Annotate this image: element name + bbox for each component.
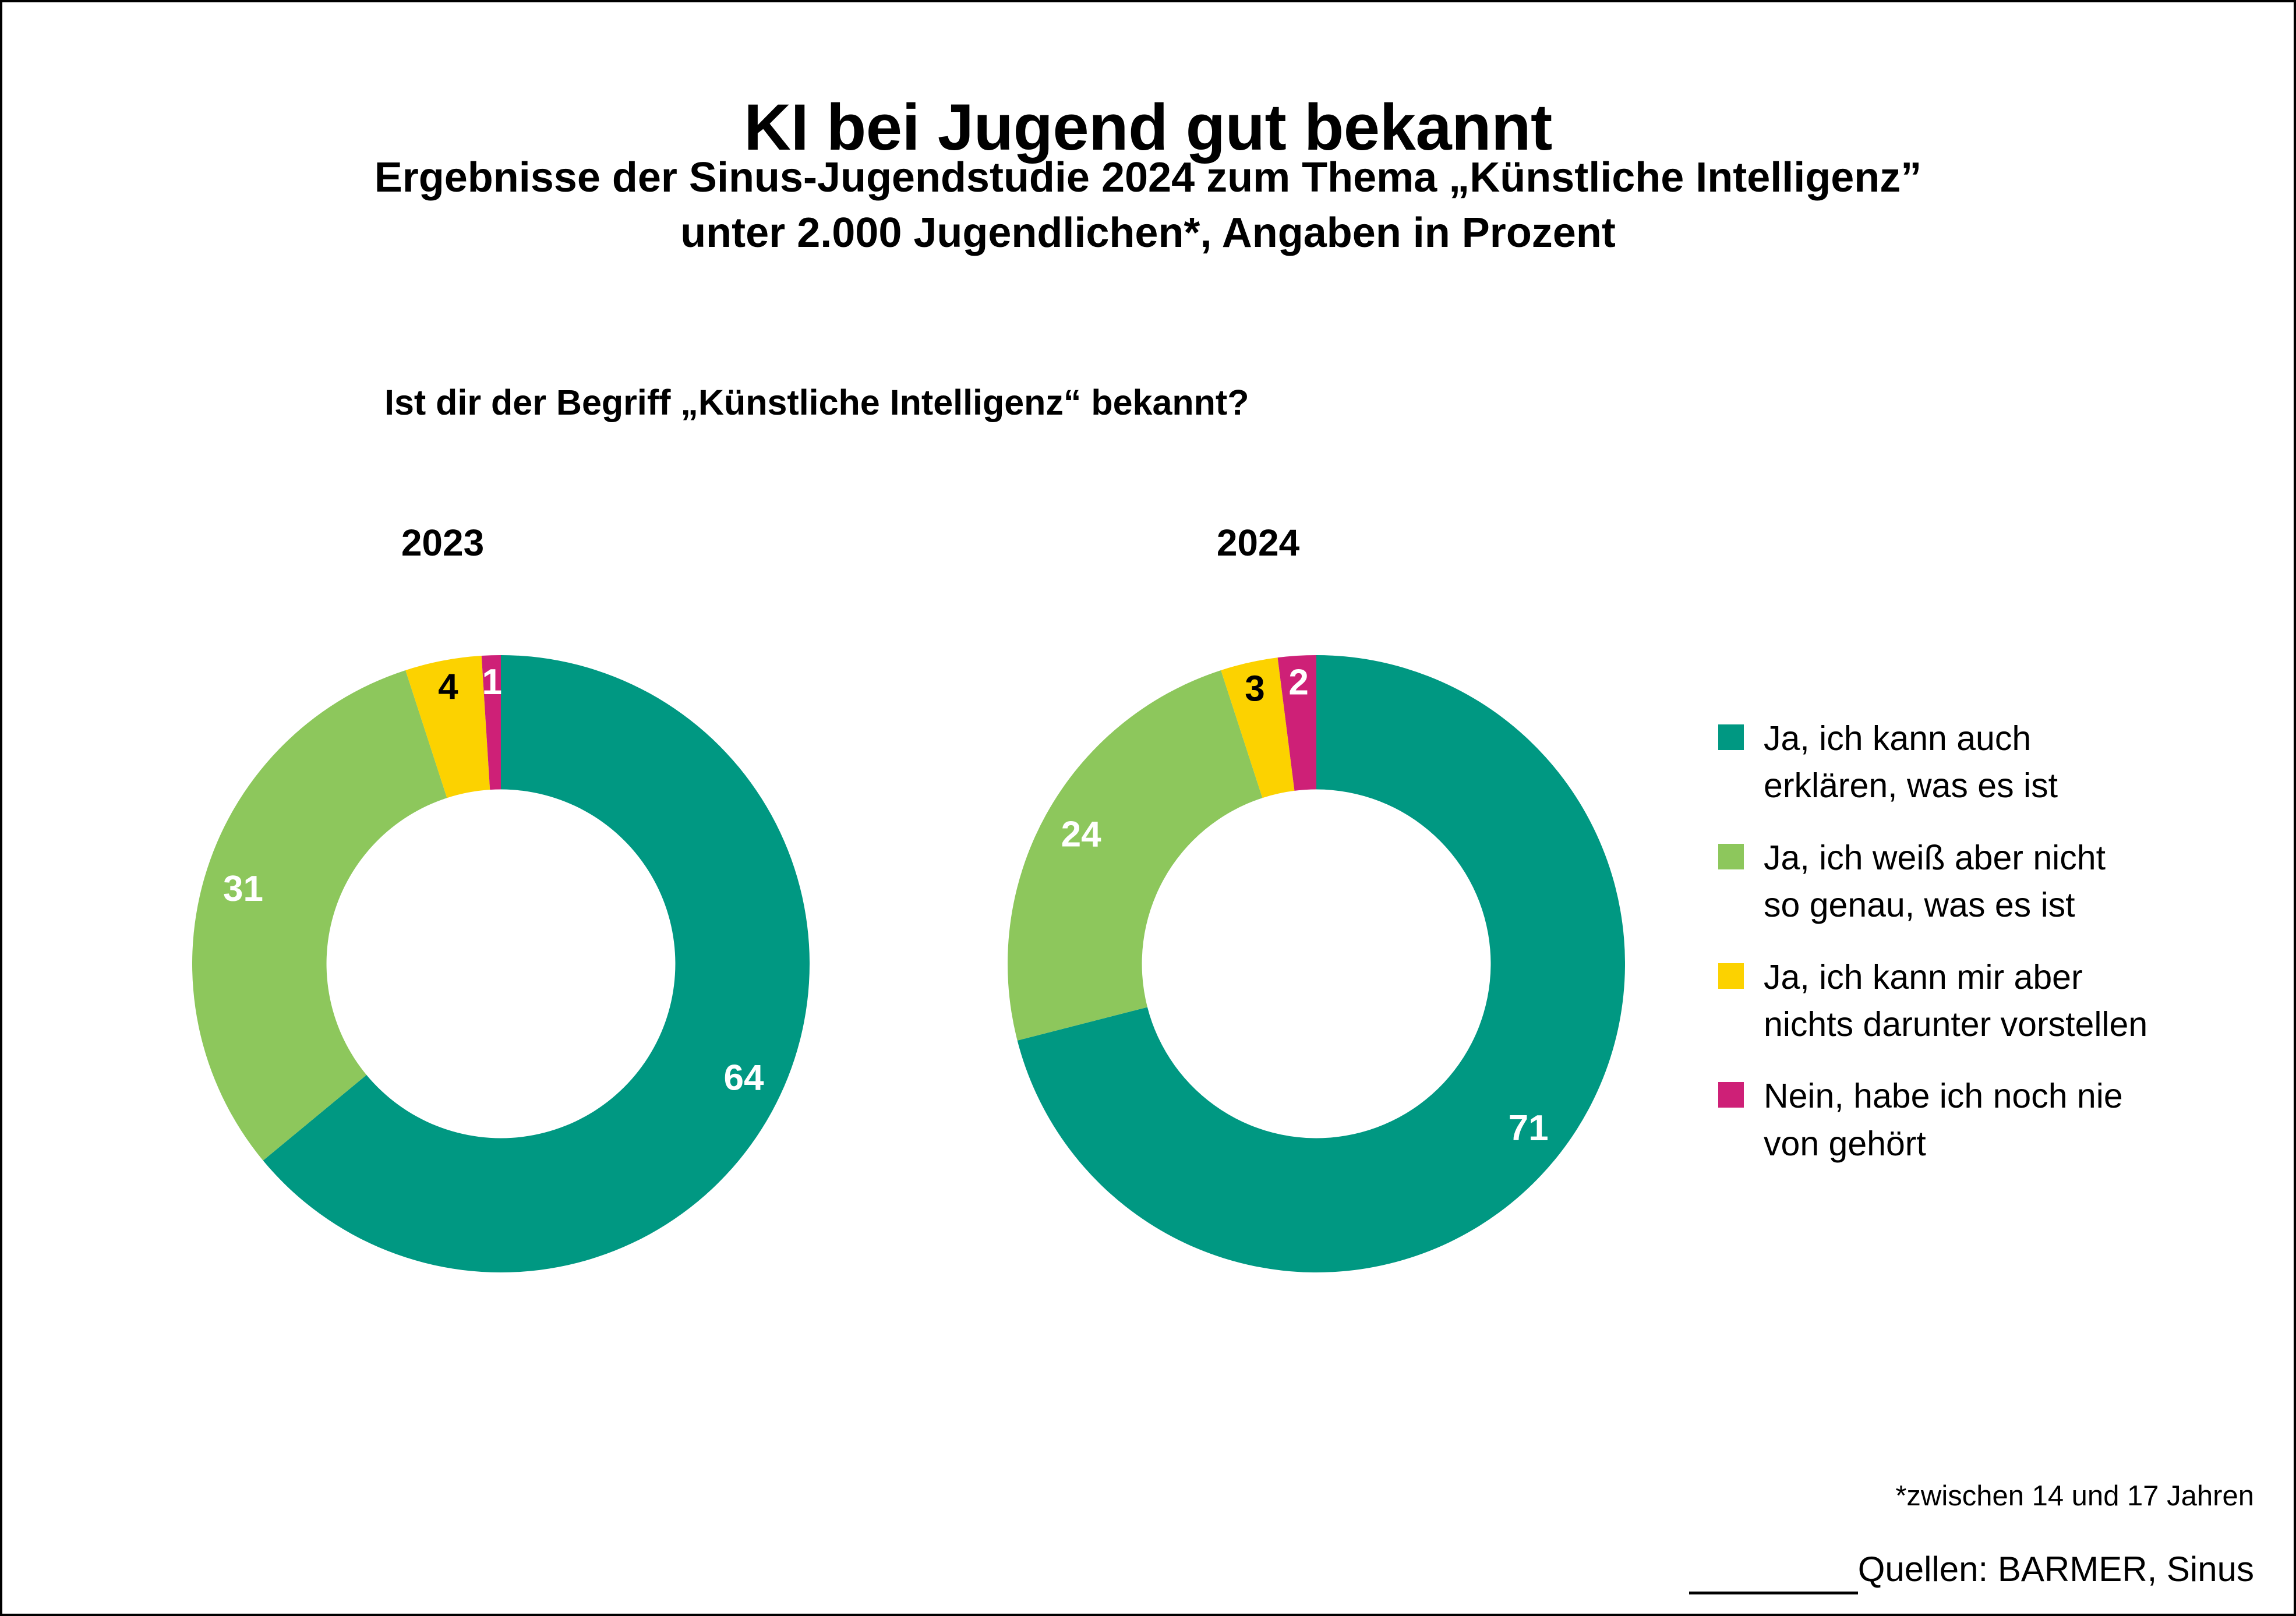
donut-slice-value: 31 [223, 869, 263, 909]
frame-border-top [0, 0, 2296, 2]
donut-chart-2024: 712432 [1005, 652, 1628, 1275]
legend: Ja, ich kann auch erklären, was es ist J… [1718, 715, 2266, 1192]
subtitle-line-2: unter 2.000 Jugendlichen*, Angaben in Pr… [0, 206, 2296, 261]
donut-slice-value: 4 [438, 667, 458, 707]
donut-svg-2023: 643141 [189, 652, 813, 1275]
donut-slice-value: 64 [723, 1058, 764, 1098]
frame-border-bottom [0, 1614, 2296, 1616]
subtitle-block: Ergebnisse der Sinus-Jugendstudie 2024 z… [0, 150, 2296, 261]
donut-slice-value: 3 [1245, 669, 1264, 709]
legend-item[interactable]: Nein, habe ich noch nie von gehört [1718, 1073, 2266, 1168]
legend-item[interactable]: Ja, ich kann mir aber nichts darunter vo… [1718, 954, 2266, 1049]
legend-swatch-icon [1718, 724, 1744, 750]
source-credit: Quellen: BARMER, Sinus [1427, 1552, 2254, 1587]
chart-year-label-2023: 2023 [326, 524, 559, 561]
legend-item[interactable]: Ja, ich weiß aber nicht so genau, was es… [1718, 834, 2266, 929]
survey-question: Ist dir der Begriff „Künstliche Intellig… [384, 383, 1549, 422]
legend-item-label: Nein, habe ich noch nie von gehört [1764, 1073, 2123, 1168]
donut-slice[interactable] [192, 670, 447, 1161]
chart-year-label-2024: 2024 [1142, 524, 1375, 561]
footnote-age-range: *zwischen 14 und 17 Jahren [1427, 1482, 2254, 1511]
legend-swatch-icon [1718, 844, 1744, 869]
donut-slice-value: 2 [1288, 663, 1308, 703]
donut-slice-value: 71 [1509, 1108, 1549, 1148]
legend-item-label: Ja, ich kann auch erklären, was es ist [1764, 715, 2058, 810]
donut-slice-value: 24 [1061, 814, 1101, 854]
donut-chart-2023: 643141 [189, 652, 813, 1275]
legend-swatch-icon [1718, 1082, 1744, 1108]
source-divider-rule [1689, 1592, 1858, 1594]
infographic-canvas: KI bei Jugend gut bekannt Ergebnisse der… [0, 0, 2296, 1616]
donut-svg-2024: 712432 [1005, 652, 1628, 1275]
legend-item-label: Ja, ich kann mir aber nichts darunter vo… [1764, 954, 2147, 1049]
legend-item[interactable]: Ja, ich kann auch erklären, was es ist [1718, 715, 2266, 810]
donut-slice[interactable] [1008, 670, 1262, 1041]
legend-swatch-icon [1718, 963, 1744, 989]
subtitle-line-1: Ergebnisse der Sinus-Jugendstudie 2024 z… [0, 150, 2296, 206]
legend-item-label: Ja, ich weiß aber nicht so genau, was es… [1764, 834, 2106, 929]
donut-slice-value: 1 [482, 662, 502, 702]
